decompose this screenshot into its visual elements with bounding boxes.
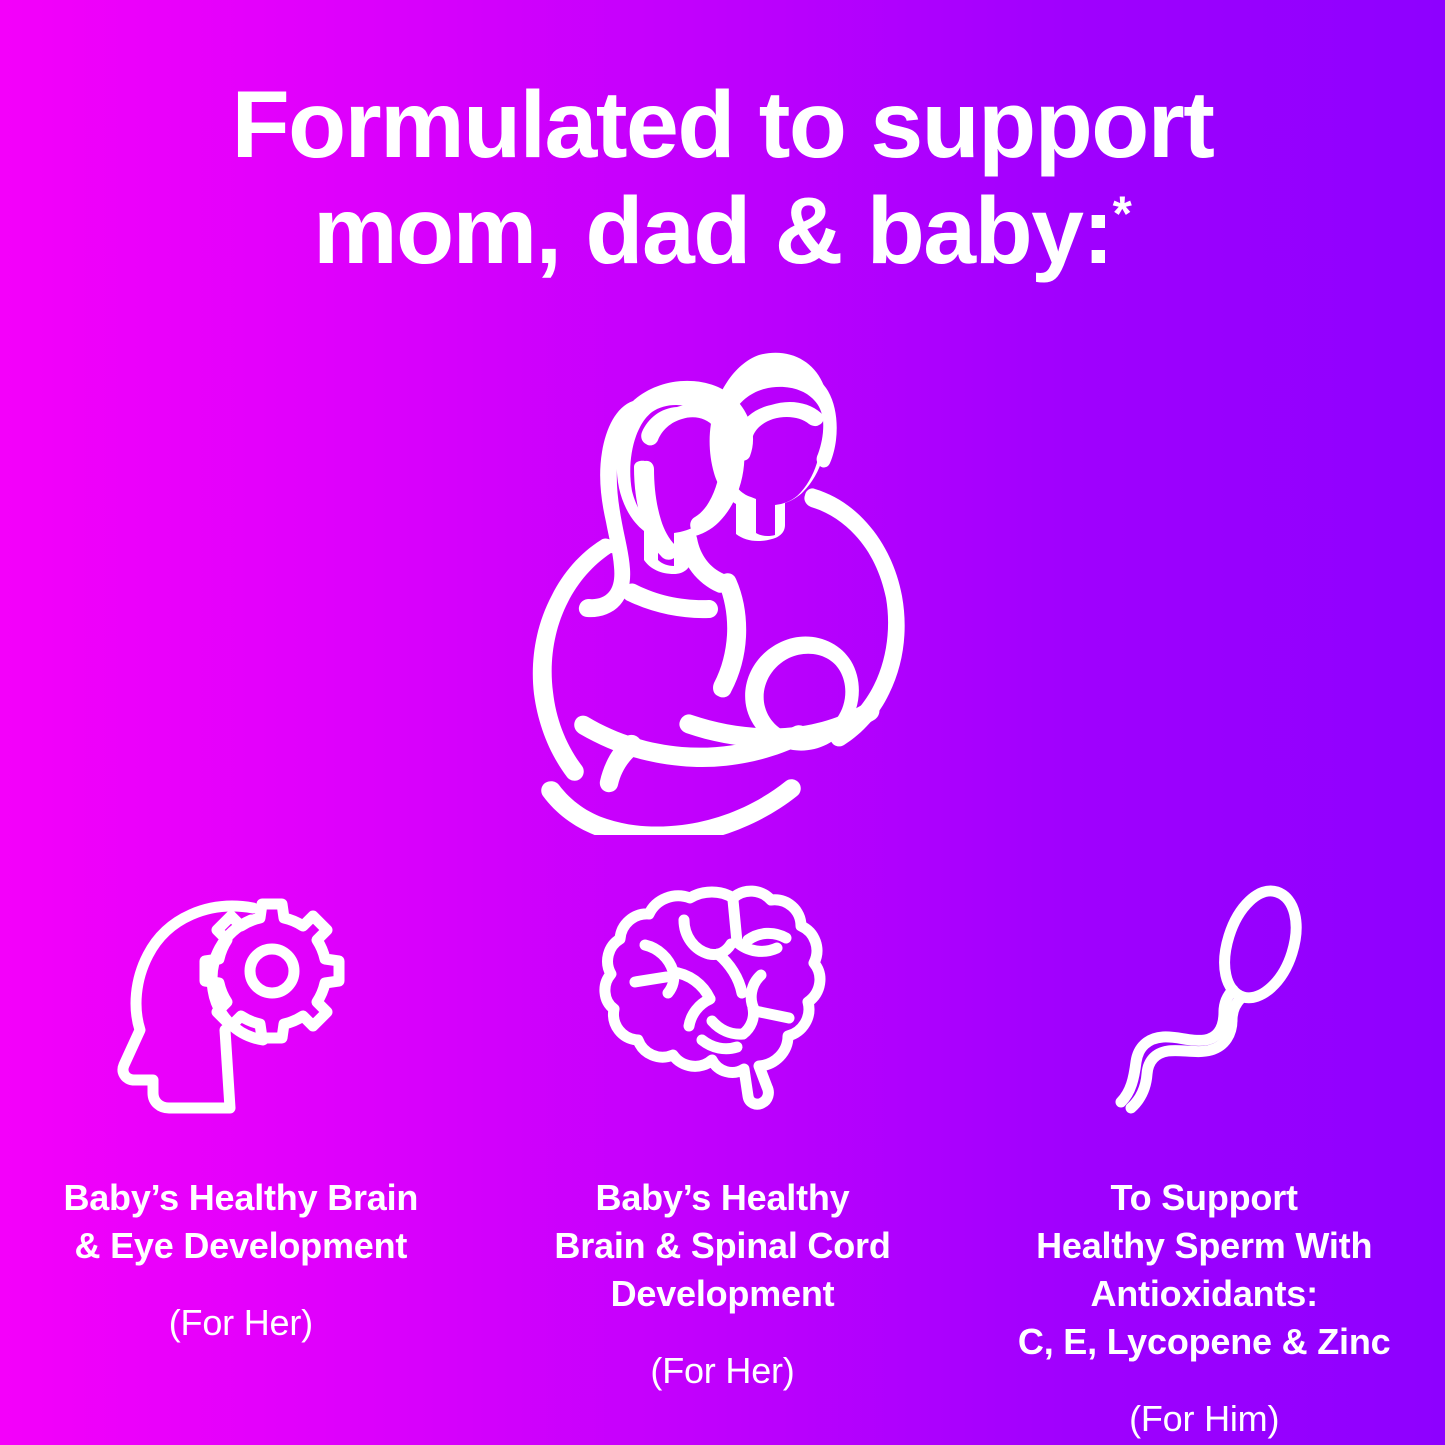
- page-title: Formulated to support mom, dad & baby:*: [0, 72, 1445, 285]
- family-illustration: [513, 345, 933, 835]
- headline-line-2: mom, dad & baby:: [313, 178, 1112, 284]
- benefit-audience-1: (For Her): [169, 1300, 313, 1347]
- head-with-gear-icon: [113, 875, 363, 1120]
- benefit-column-3: To Support Healthy Sperm With Antioxidan…: [963, 875, 1445, 1442]
- benefit-audience-2: (For Her): [650, 1348, 794, 1395]
- brain-icon: [598, 875, 848, 1120]
- benefit-column-1: Baby’s Healthy Brain & Eye Development (…: [0, 875, 482, 1347]
- sperm-icon: [1093, 875, 1343, 1120]
- headline-line-2-wrapper: mom, dad & baby:*: [0, 178, 1445, 284]
- marketing-poster: Formulated to support mom, dad & baby:*: [0, 0, 1445, 1445]
- benefit-title-2: Baby’s Healthy Brain & Spinal Cord Devel…: [554, 1174, 890, 1318]
- headline-line-1: Formulated to support: [0, 72, 1445, 178]
- benefit-audience-3: (For Him): [1129, 1396, 1279, 1443]
- footnote-asterisk: *: [1113, 187, 1132, 242]
- benefits-row: Baby’s Healthy Brain & Eye Development (…: [0, 875, 1445, 1435]
- benefit-title-1: Baby’s Healthy Brain & Eye Development: [63, 1174, 418, 1270]
- benefit-title-3: To Support Healthy Sperm With Antioxidan…: [1018, 1174, 1391, 1366]
- benefit-column-2: Baby’s Healthy Brain & Spinal Cord Devel…: [482, 875, 964, 1394]
